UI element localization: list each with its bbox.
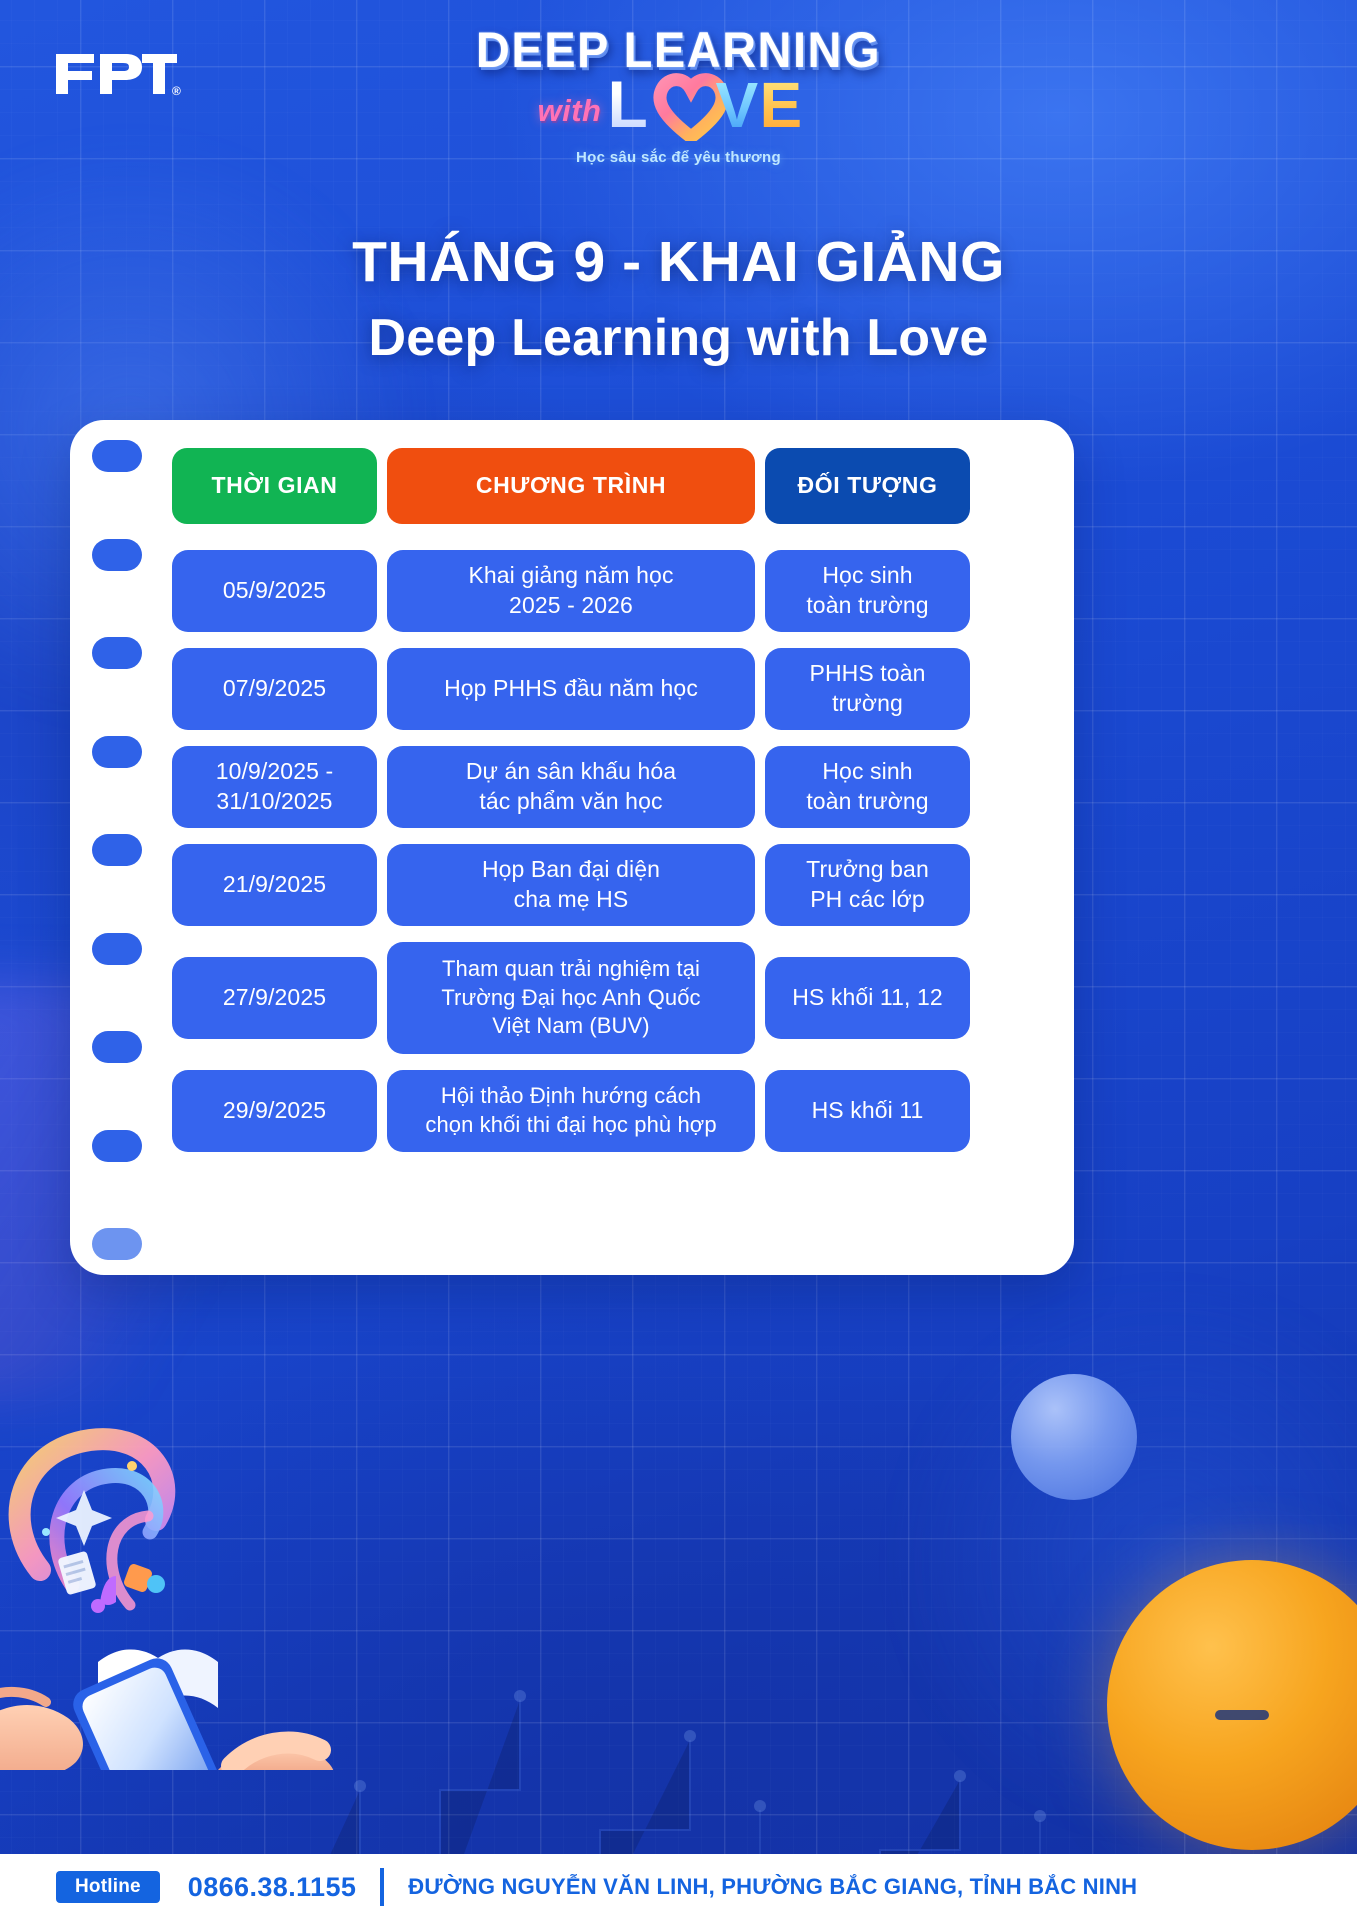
cell-program: Họp Ban đại diện cha mẹ HS	[387, 844, 755, 926]
punch-hole	[92, 539, 142, 571]
hotline-label: Hotline	[56, 1871, 160, 1903]
title-line-1: THÁNG 9 - KHAI GIẢNG	[0, 228, 1357, 296]
logo-love-text: L V E	[608, 69, 820, 141]
program-logo: DEEP LEARNING with L V E Học sâu sắc để …	[0, 26, 1357, 166]
cell-program: Hội thảo Định hướng cách chọn khối thi đ…	[387, 1070, 755, 1152]
punch-hole	[92, 440, 142, 472]
table-header-row: THỜI GIAN CHƯƠNG TRÌNH ĐỐI TƯỢNG	[172, 448, 1056, 524]
cell-audience: Học sinh toàn trường	[765, 550, 970, 632]
table-row: 05/9/2025 Khai giảng năm học 2025 - 2026…	[172, 550, 1056, 632]
cell-time: 10/9/2025 - 31/10/2025	[172, 746, 377, 828]
footer-address: ĐƯỜNG NGUYỄN VĂN LINH, PHƯỜNG BẮC GIANG,…	[408, 1874, 1137, 1900]
cell-audience: HS khối 11, 12	[765, 957, 970, 1039]
logo-letter-e: E	[760, 73, 803, 137]
table-row: 07/9/2025 Họp PHHS đầu năm học PHHS toàn…	[172, 648, 1056, 730]
logo-love-row: with L V E	[538, 69, 820, 141]
footer-divider	[380, 1868, 384, 1906]
punch-hole	[92, 1130, 142, 1162]
header-chuong-trinh: CHƯƠNG TRÌNH	[387, 448, 755, 524]
cell-audience: Trưởng ban PH các lớp	[765, 844, 970, 926]
cell-time: 27/9/2025	[172, 957, 377, 1039]
table-row: 21/9/2025 Họp Ban đại diện cha mẹ HS Trư…	[172, 844, 1056, 926]
table-row: 10/9/2025 - 31/10/2025 Dự án sân khấu hó…	[172, 746, 1056, 828]
title-line-2: Deep Learning with Love	[0, 306, 1357, 371]
punch-hole	[92, 637, 142, 669]
table-row: 27/9/2025 Tham quan trải nghiệm tại Trườ…	[172, 942, 1056, 1054]
header-thoi-gian: THỜI GIAN	[172, 448, 377, 524]
footer-bar: Hotline 0866.38.1155 ĐƯỜNG NGUYỄN VĂN LI…	[0, 1854, 1357, 1920]
program-tagline: Học sâu sắc để yêu thương	[576, 149, 781, 166]
header-doi-tuong: ĐỐI TƯỢNG	[765, 448, 970, 524]
logo-letter-l: L	[608, 71, 648, 137]
hands-phone-illustration	[0, 1370, 410, 1770]
cell-audience: Học sinh toàn trường	[765, 746, 970, 828]
decorative-orb-small	[1011, 1374, 1137, 1500]
punch-hole	[92, 1031, 142, 1063]
punch-hole	[92, 1228, 142, 1260]
punch-hole	[92, 933, 142, 965]
poster-title: THÁNG 9 - KHAI GIẢNG Deep Learning with …	[0, 228, 1357, 371]
table-row: 29/9/2025 Hội thảo Định hướng cách chọn …	[172, 1070, 1056, 1152]
punch-hole	[92, 736, 142, 768]
punch-hole-column	[92, 440, 152, 1260]
hotline-number[interactable]: 0866.38.1155	[188, 1872, 356, 1903]
cell-audience: HS khối 11	[765, 1070, 970, 1152]
cell-audience: PHHS toàn trường	[765, 648, 970, 730]
cell-program: Khai giảng năm học 2025 - 2026	[387, 550, 755, 632]
decorative-orb-slit	[1215, 1710, 1269, 1720]
cell-time: 05/9/2025	[172, 550, 377, 632]
punch-hole	[92, 834, 142, 866]
logo-with-text: with	[538, 93, 602, 129]
cell-program: Dự án sân khấu hóa tác phẩm văn học	[387, 746, 755, 828]
cell-program: Họp PHHS đầu năm học	[387, 648, 755, 730]
cell-program: Tham quan trải nghiệm tại Trường Đại học…	[387, 942, 755, 1054]
schedule-table: THỜI GIAN CHƯƠNG TRÌNH ĐỐI TƯỢNG 05/9/20…	[172, 448, 1056, 1168]
cell-time: 21/9/2025	[172, 844, 377, 926]
cell-time: 29/9/2025	[172, 1070, 377, 1152]
logo-letter-v: V	[716, 73, 759, 137]
cell-time: 07/9/2025	[172, 648, 377, 730]
